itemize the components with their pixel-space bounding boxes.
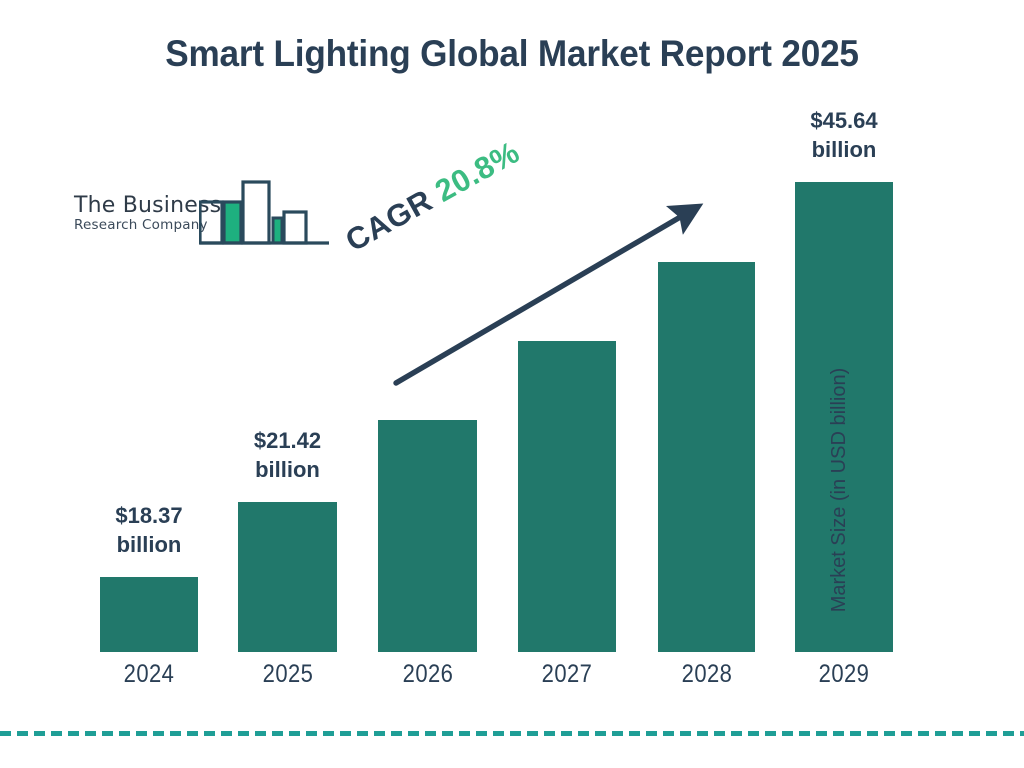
bar-2024 (100, 577, 198, 652)
value-label-amount: $45.64 (769, 106, 919, 135)
x-tick-2028: 2028 (654, 660, 760, 689)
plot-area: $18.37billion$21.42billion$45.64billion … (0, 0, 1024, 768)
y-axis-title: Market Size (in USD billion) (828, 368, 851, 613)
x-tick-2027: 2027 (514, 660, 620, 689)
value-label-unit: billion (213, 455, 363, 484)
x-tick-2029: 2029 (791, 660, 897, 689)
bar-2028 (658, 262, 755, 652)
chart-canvas: Smart Lighting Global Market Report 2025… (0, 0, 1024, 768)
bar-2025 (238, 502, 337, 652)
footer-dashed-rule (0, 731, 1024, 736)
bar-2027 (518, 341, 616, 652)
y-axis-title-wrap: Market Size (in USD billion) (906, 300, 958, 680)
x-tick-2025: 2025 (235, 660, 341, 689)
cagr-value: 20.8% (429, 134, 525, 208)
cagr-annotation: CAGR 20.8% (340, 116, 594, 324)
x-tick-2026: 2026 (375, 660, 481, 689)
value-label-2025: $21.42billion (213, 426, 363, 484)
value-label-2029: $45.64billion (769, 106, 919, 164)
value-label-amount: $21.42 (213, 426, 363, 455)
cagr-label: CAGR (340, 183, 439, 259)
value-label-2024: $18.37billion (74, 501, 224, 559)
bar-2026 (378, 420, 477, 652)
value-label-unit: billion (769, 135, 919, 164)
x-tick-2024: 2024 (96, 660, 202, 689)
value-label-unit: billion (74, 530, 224, 559)
value-label-amount: $18.37 (74, 501, 224, 530)
